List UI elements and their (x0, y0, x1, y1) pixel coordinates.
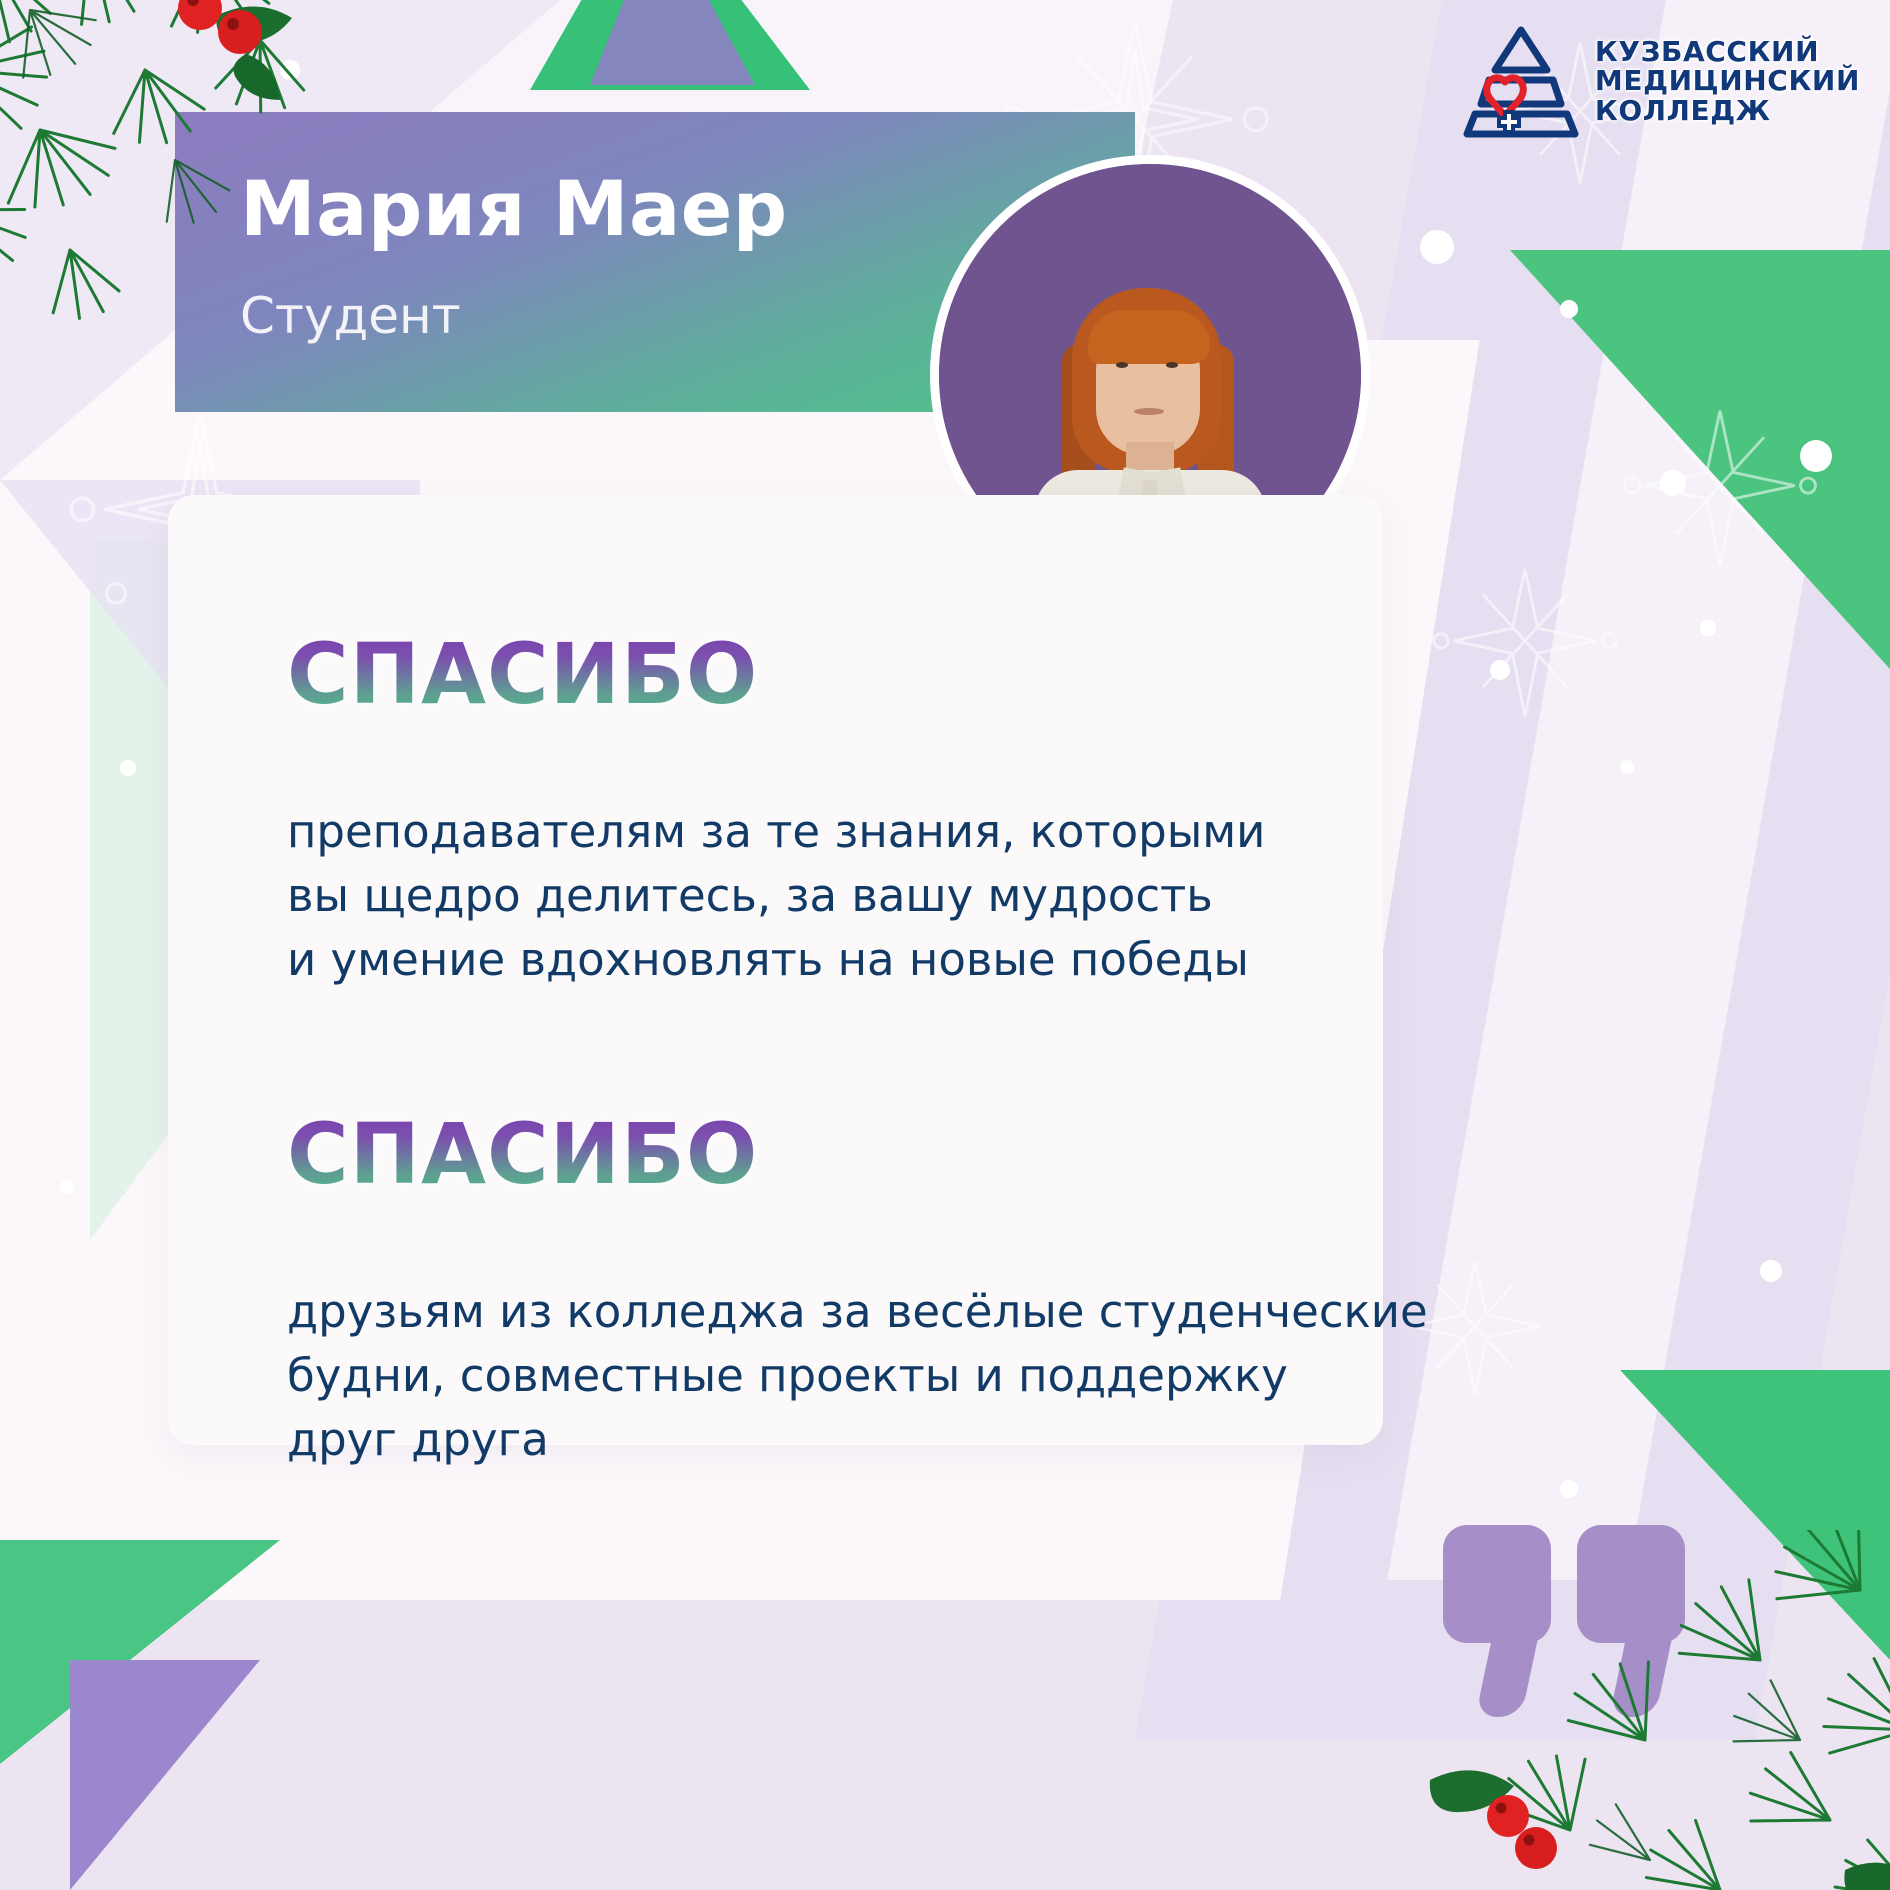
avatar-eye-right (1166, 362, 1178, 368)
snow-dot (1800, 440, 1832, 472)
avatar-eye-left (1116, 362, 1128, 368)
logo-line-3: КОЛЛЕДЖ (1595, 96, 1860, 125)
snowflake-icon (1420, 560, 1630, 730)
quote-glyph-right (1577, 1525, 1685, 1715)
person-name: Мария Маер (240, 164, 788, 253)
snow-dot (1700, 620, 1716, 636)
logo-line-2: МЕДИЦИНСКИЙ (1595, 66, 1860, 95)
avatar-mouth (1134, 408, 1164, 415)
person-role: Студент (240, 287, 461, 345)
snow-dot (1490, 660, 1510, 680)
college-logo-text: КУЗБАССКИЙ МЕДИЦИНСКИЙ КОЛЛЕДЖ (1595, 37, 1860, 124)
pyramid-heart-icon (1461, 22, 1581, 140)
snow-dot (1560, 1480, 1578, 1498)
snow-dot (1560, 300, 1578, 318)
snow-dot (1620, 760, 1634, 774)
snow-dot (60, 1180, 74, 1194)
quotation-mark-icon (1443, 1525, 1685, 1715)
college-logo: КУЗБАССКИЙ МЕДИЦИНСКИЙ КОЛЛЕДЖ (1461, 22, 1860, 140)
snow-dot (1420, 230, 1454, 264)
thanks-body-2: друзьям из колледжа за весёлые студенчес… (287, 1280, 1428, 1472)
quote-glyph-left (1443, 1525, 1551, 1715)
snow-dot (120, 760, 136, 776)
snow-dot (1760, 1260, 1782, 1282)
decor-purple-triangle-top (590, 0, 755, 85)
logo-line-1: КУЗБАССКИЙ (1595, 37, 1860, 66)
thanks-heading-2: СПАСИБО (287, 1105, 758, 1203)
poster-canvas: Мария Маер Студент (0, 0, 1890, 1890)
snow-dot (280, 60, 300, 80)
avatar-fringe (1088, 310, 1210, 364)
snow-dot (1660, 470, 1686, 496)
decor-purple-triangle-bottom-left (70, 1660, 260, 1890)
thanks-heading-1: СПАСИБО (287, 625, 758, 723)
snowflake-icon (1610, 400, 1830, 580)
thanks-body-1: преподавателям за те знания, которыми вы… (287, 800, 1265, 992)
